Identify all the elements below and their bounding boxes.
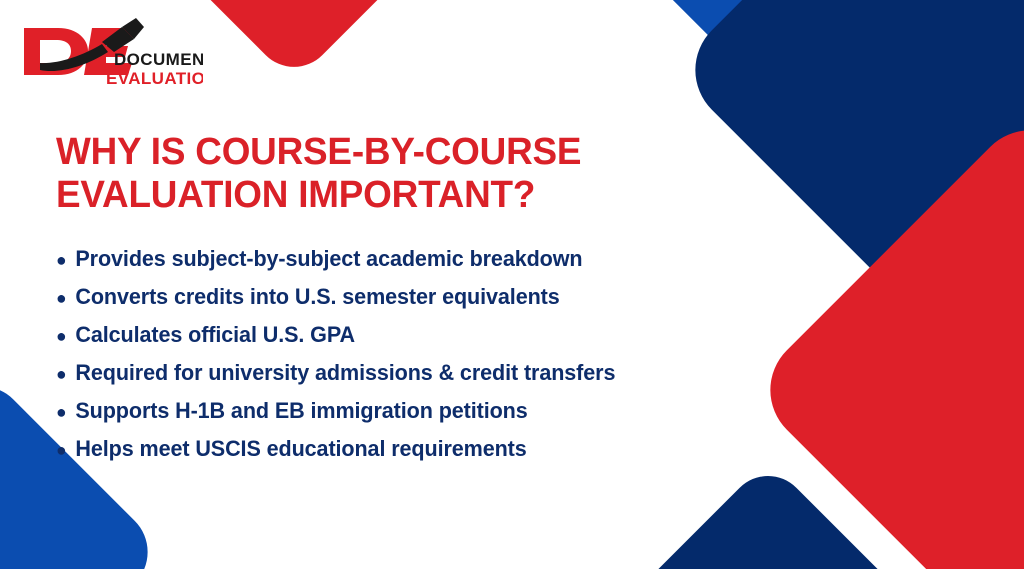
brand-logo: DOCUMENT EVALUATION [18, 18, 203, 90]
list-item: ● Provides subject-by-subject academic b… [56, 248, 703, 270]
bullet-dot-icon: ● [56, 251, 67, 269]
list-item-label: Provides subject-by-subject academic bre… [75, 248, 582, 270]
list-item: ● Calculates official U.S. GPA [56, 324, 703, 346]
list-item: ● Converts credits into U.S. semester eq… [56, 286, 703, 308]
list-item: ● Helps meet USCIS educational requireme… [56, 438, 703, 460]
content-block: WHY IS COURSE-BY-COURSE EVALUATION IMPOR… [56, 131, 716, 460]
page-title: WHY IS COURSE-BY-COURSE EVALUATION IMPOR… [56, 131, 696, 218]
page-title-line-2: EVALUATION IMPORTANT? [56, 174, 535, 216]
slide-canvas: DOCUMENT EVALUATION WHY IS COURSE-BY-COU… [0, 0, 1024, 569]
bullet-dot-icon: ● [56, 365, 67, 383]
list-item: ● Supports H-1B and EB immigration petit… [56, 400, 703, 422]
list-item-label: Required for university admissions & cre… [75, 362, 615, 384]
logo-wordmark-evaluation: EVALUATION [106, 69, 203, 88]
page-title-line-1: WHY IS COURSE-BY-COURSE [56, 131, 581, 173]
list-item-label: Calculates official U.S. GPA [75, 324, 355, 346]
list-item-label: Supports H-1B and EB immigration petitio… [75, 400, 527, 422]
benefits-list: ● Provides subject-by-subject academic b… [56, 248, 716, 460]
bullet-dot-icon: ● [56, 327, 67, 345]
bullet-dot-icon: ● [56, 403, 67, 421]
list-item-label: Converts credits into U.S. semester equi… [75, 286, 559, 308]
logo-wordmark-document: DOCUMENT [114, 50, 203, 69]
list-item: ● Required for university admissions & c… [56, 362, 703, 384]
bullet-dot-icon: ● [56, 441, 67, 459]
bullet-dot-icon: ● [56, 289, 67, 307]
list-item-label: Helps meet USCIS educational requirement… [75, 438, 526, 460]
